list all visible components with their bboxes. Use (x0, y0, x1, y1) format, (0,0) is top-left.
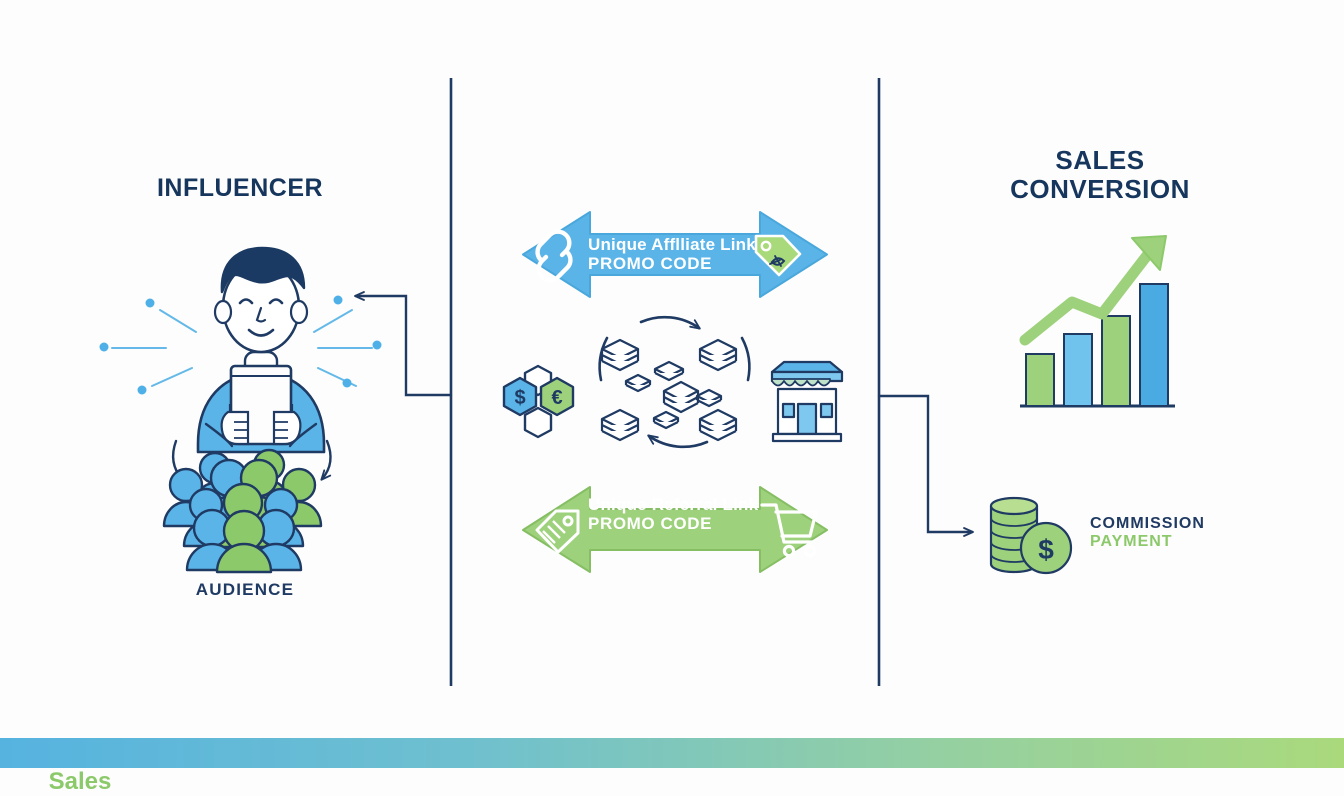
svg-text:$: $ (514, 387, 525, 409)
currency-hexagons-dollar-euro-icon: $ € (504, 366, 573, 437)
connector-center-to-commission (879, 396, 972, 532)
page-title-influencer: INFLUENCER (0, 174, 480, 202)
sales-growth-bar-chart (1020, 236, 1175, 406)
audience-label: AUDIENCE (100, 580, 390, 599)
svg-text:$: $ (1038, 534, 1054, 565)
block-single (654, 412, 678, 428)
commission-line2: PAYMENT (1090, 533, 1205, 551)
blue-banner-label: Unique Afflliate Link PROMO CODE (588, 236, 756, 273)
influencer-ear-right (291, 301, 307, 323)
block-stack (700, 410, 736, 440)
chart-bar-1 (1026, 354, 1054, 406)
decorative-gradient-bar (0, 738, 1344, 768)
green-banner-line1: Unique Referral Link (588, 496, 758, 515)
commission-line1: COMMISSION (1090, 515, 1205, 533)
chart-bar-4 (1140, 284, 1168, 406)
block-single (697, 390, 721, 406)
connector-center-to-influencer (356, 296, 451, 395)
svg-text:€: € (551, 387, 562, 409)
audience-crowd-icon (164, 450, 321, 572)
block-single (626, 375, 650, 391)
block-single (655, 362, 683, 380)
chart-bar-3 (1102, 316, 1130, 406)
diagram-canvas: $ € (0, 0, 1344, 768)
blue-banner-line1: Unique Afflliate Link (588, 236, 756, 255)
page-title-sales-conversion: SALES CONVERSION (940, 146, 1260, 204)
block-stack (602, 340, 638, 370)
chart-bar-2 (1064, 334, 1092, 406)
diagram-artwork: $ € (0, 0, 1344, 768)
influencer-person-with-tablet (100, 248, 382, 452)
chart-label-sales: Sales (0, 768, 160, 796)
blue-banner-line2: PROMO CODE (588, 255, 756, 274)
influencer-ear-left (215, 301, 231, 323)
block-stack (602, 410, 638, 440)
green-banner-line2: PROMO CODE (588, 515, 758, 534)
storefront-shop-icon (772, 362, 842, 441)
block-stack (664, 382, 698, 412)
block-stack (700, 340, 736, 370)
blockchain-circulation-icon (600, 317, 750, 447)
coin-stack-dollar-icon: $ (991, 498, 1071, 573)
hexagon-bottom (525, 408, 551, 437)
commission-payment-label: COMMISSION PAYMENT (1090, 515, 1205, 552)
green-banner-label: Unique Referral Link PROMO CODE (588, 496, 758, 533)
